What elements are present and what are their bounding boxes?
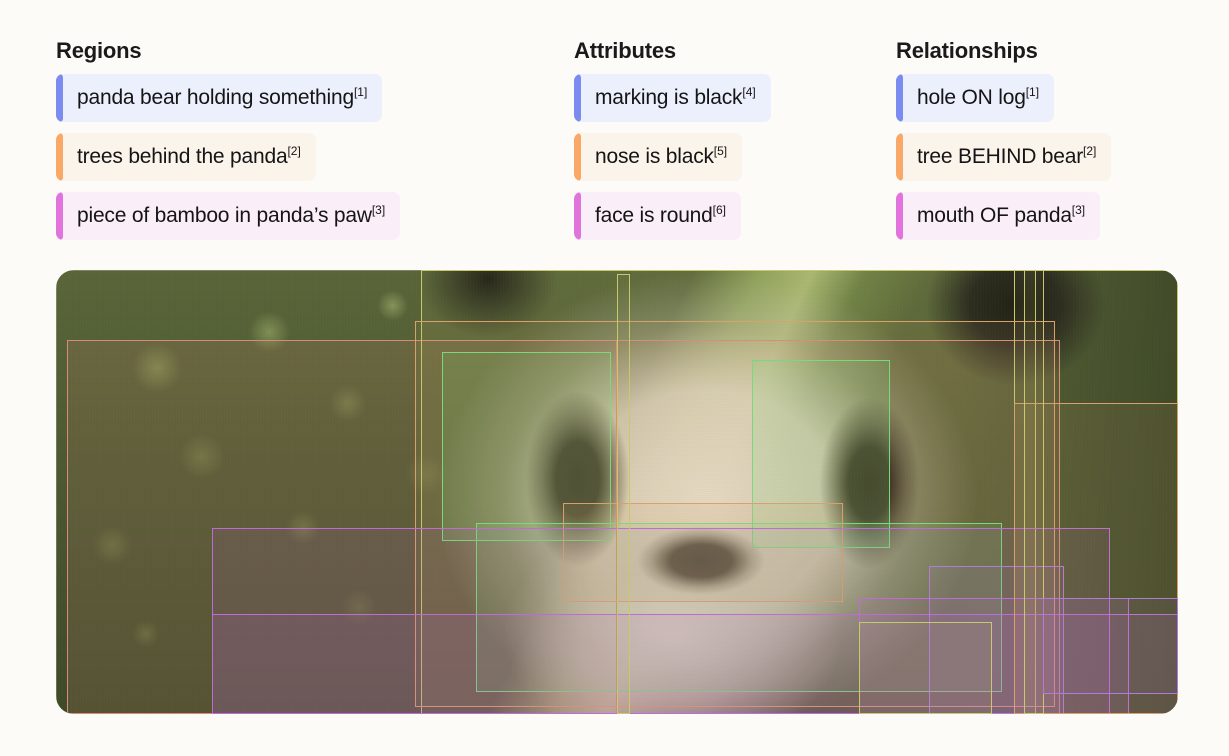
accent-bar-icon	[574, 133, 581, 181]
pill-list-attributes: marking is black[4] nose is black[5] fac…	[574, 74, 850, 251]
reference-marker: [3]	[372, 203, 385, 217]
annotation-columns: Regions panda bear holding something[1] …	[0, 0, 1229, 262]
reference-marker: [2]	[287, 144, 300, 158]
attribute-item-2-label: nose is black[5]	[581, 133, 742, 181]
pill-row: panda bear holding something[1]	[56, 74, 508, 133]
pill-row: nose is black[5]	[574, 133, 850, 192]
region-item-3-label: piece of bamboo in panda’s paw[3]	[63, 192, 400, 240]
relationship-item-1-label: hole ON log[1]	[903, 74, 1054, 122]
relationship-item-2[interactable]: tree BEHIND bear[2]	[896, 133, 1111, 181]
pill-row: tree BEHIND bear[2]	[896, 133, 1184, 192]
bbox-marking-black[interactable]	[1024, 270, 1044, 714]
pill-row: trees behind the panda[2]	[56, 133, 508, 192]
region-item-1[interactable]: panda bear holding something[1]	[56, 74, 382, 122]
pill-row: face is round[6]	[574, 192, 850, 251]
column-attributes: Attributes marking is black[4] nose is b…	[574, 38, 850, 251]
pill-row: piece of bamboo in panda’s paw[3]	[56, 192, 508, 251]
reference-marker: [5]	[714, 144, 727, 158]
column-heading-attributes: Attributes	[574, 38, 850, 64]
accent-bar-icon	[56, 192, 63, 240]
accent-bar-icon	[574, 192, 581, 240]
reference-marker: [6]	[713, 203, 726, 217]
accent-bar-icon	[896, 74, 903, 122]
region-item-1-label: panda bear holding something[1]	[63, 74, 382, 122]
reference-marker: [2]	[1083, 144, 1096, 158]
bbox-face-round[interactable]	[617, 274, 630, 714]
column-regions: Regions panda bear holding something[1] …	[56, 38, 508, 251]
accent-bar-icon	[574, 74, 581, 122]
attribute-item-2[interactable]: nose is black[5]	[574, 133, 742, 181]
attribute-item-3[interactable]: face is round[6]	[574, 192, 741, 240]
annotated-image-panel[interactable]	[56, 270, 1178, 714]
pill-list-relationships: hole ON log[1] tree BEHIND bear[2] mouth…	[896, 74, 1184, 251]
region-item-3[interactable]: piece of bamboo in panda’s paw[3]	[56, 192, 400, 240]
pill-row: marking is black[4]	[574, 74, 850, 133]
reference-marker: [4]	[742, 85, 755, 99]
reference-marker: [1]	[354, 85, 367, 99]
relationship-item-3-label: mouth OF panda[3]	[903, 192, 1100, 240]
column-heading-regions: Regions	[56, 38, 508, 64]
column-heading-relationships: Relationships	[896, 38, 1184, 64]
pill-list-regions: panda bear holding something[1] trees be…	[56, 74, 508, 251]
reference-marker: [1]	[1026, 85, 1039, 99]
region-item-2[interactable]: trees behind the panda[2]	[56, 133, 316, 181]
column-relationships: Relationships hole ON log[1] tree BEHIND…	[896, 38, 1184, 251]
relationship-item-3[interactable]: mouth OF panda[3]	[896, 192, 1100, 240]
relationship-item-2-label: tree BEHIND bear[2]	[903, 133, 1111, 181]
attribute-item-3-label: face is round[6]	[581, 192, 741, 240]
reference-marker: [3]	[1072, 203, 1085, 217]
accent-bar-icon	[896, 192, 903, 240]
relationship-item-1[interactable]: hole ON log[1]	[896, 74, 1054, 122]
pill-row: mouth OF panda[3]	[896, 192, 1184, 251]
pill-row: hole ON log[1]	[896, 74, 1184, 133]
accent-bar-icon	[56, 133, 63, 181]
bbox-lower-right-patch[interactable]	[1043, 598, 1178, 694]
attribute-item-1-label: marking is black[4]	[581, 74, 771, 122]
attribute-item-1[interactable]: marking is black[4]	[574, 74, 771, 122]
bbox-right-foliage[interactable]	[859, 622, 991, 714]
accent-bar-icon	[896, 133, 903, 181]
accent-bar-icon	[56, 74, 63, 122]
region-item-2-label: trees behind the panda[2]	[63, 133, 316, 181]
